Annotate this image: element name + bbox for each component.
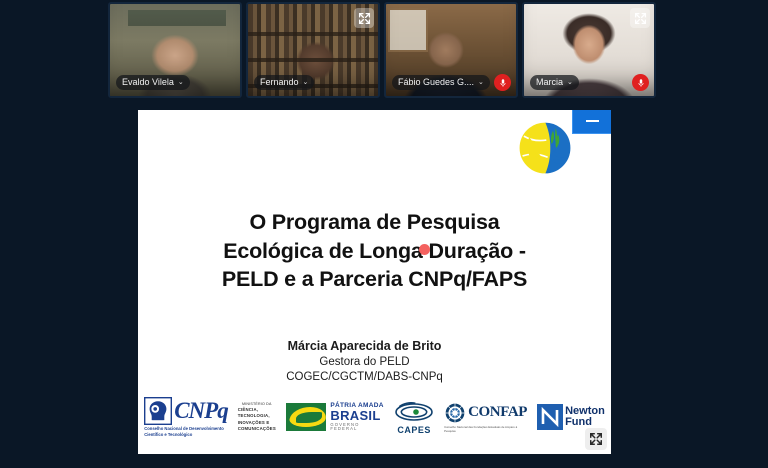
- slide-title-line-3: PELD e a Parceria CNPq/FAPS: [138, 265, 611, 294]
- participant-video-strip: Evaldo Vilela ⌄ Fernando ⌄: [108, 0, 660, 100]
- minimize-icon: [586, 120, 599, 122]
- confap-label: CONFAP: [468, 404, 527, 421]
- confap-subtitle: Conselho Nacional das Fundações Estaduai…: [444, 425, 527, 433]
- slide-bottom-bar: [138, 454, 611, 468]
- cnpq-logo: CNPq Conselho Nacional de Desenvolviment…: [144, 397, 228, 438]
- author-department: COGEC/CGCTM/DABS-CNPq: [138, 370, 591, 386]
- ministerio-logo: MINISTÉRIO DA CIÊNCIA, TECNOLOGIA, INOVA…: [238, 402, 276, 432]
- participant-tile-fernando[interactable]: Fernando ⌄: [246, 2, 380, 98]
- brazil-flag-icon: [286, 403, 326, 431]
- author-name: Márcia Aparecida de Brito: [138, 338, 591, 355]
- newton-line-2: Fund: [565, 417, 605, 428]
- minimize-button[interactable]: [572, 110, 611, 134]
- author-role: Gestora do PELD: [138, 355, 591, 371]
- laser-pointer-dot: [419, 244, 430, 255]
- slide-title-line-1: O Programa de Pesquisa: [138, 208, 611, 237]
- newton-mark-icon: [537, 404, 563, 430]
- meeting-screen: Evaldo Vilela ⌄ Fernando ⌄: [0, 0, 768, 468]
- slide-title: O Programa de Pesquisa Ecológica de Long…: [138, 208, 611, 294]
- cnpq-mark-icon: [144, 397, 172, 425]
- microphone-muted-icon[interactable]: [632, 74, 649, 91]
- capes-logo: CAPES: [394, 400, 434, 435]
- newton-fund-logo: Newton Fund: [537, 404, 605, 430]
- ministerio-line-3: INOVAÇÕES E COMUNICAÇÕES: [238, 420, 276, 432]
- expand-icon[interactable]: [630, 8, 650, 28]
- microphone-muted-icon[interactable]: [494, 74, 511, 91]
- cnpq-subtitle-line-1: Conselho Nacional de Desenvolvimento: [144, 426, 224, 431]
- chevron-down-icon[interactable]: ⌄: [478, 79, 484, 86]
- slide-content: O Programa de Pesquisa Ecológica de Long…: [138, 110, 611, 468]
- brasil-line-2: BRASIL: [330, 409, 384, 423]
- shared-presentation-slide[interactable]: O Programa de Pesquisa Ecológica de Long…: [138, 110, 611, 468]
- chevron-down-icon[interactable]: ⌄: [178, 79, 184, 86]
- expand-icon[interactable]: [585, 428, 607, 450]
- participant-name: Marcia: [536, 78, 563, 87]
- participant-name-pill[interactable]: Fábio Guedes G.... ⌄: [392, 75, 490, 90]
- participant-tile-evaldo-vilela[interactable]: Evaldo Vilela ⌄: [108, 2, 242, 98]
- participant-name: Fernando: [260, 78, 299, 87]
- confap-mark-icon: [444, 402, 466, 424]
- cnpq-subtitle-line-2: Científico e Tecnológico: [144, 432, 192, 437]
- patria-amada-brasil-logo: PÁTRIA AMADA BRASIL GOVERNO FEDERAL: [286, 403, 384, 432]
- capes-label: CAPES: [397, 425, 431, 435]
- slide-title-line-2: Ecológica de Longa Duração -: [138, 237, 611, 266]
- confap-logo: CONFAP Conselho Nacional das Fundações E…: [444, 402, 527, 433]
- ministerio-line-2: CIÊNCIA, TECNOLOGIA,: [238, 407, 276, 419]
- peld-globe-logo: [512, 115, 578, 181]
- participant-name-pill[interactable]: Fernando ⌄: [254, 75, 314, 90]
- cnpq-wordmark: CNPq: [174, 399, 228, 422]
- footer-logo-row: CNPq Conselho Nacional de Desenvolviment…: [138, 390, 611, 444]
- participant-name: Fábio Guedes G....: [398, 78, 474, 87]
- participant-name-pill[interactable]: Marcia ⌄: [530, 75, 579, 90]
- brasil-line-3: GOVERNO FEDERAL: [330, 423, 384, 431]
- expand-icon[interactable]: [354, 8, 374, 28]
- participant-name: Evaldo Vilela: [122, 78, 174, 87]
- participant-name-pill[interactable]: Evaldo Vilela ⌄: [116, 75, 190, 90]
- capes-mark-icon: [394, 400, 434, 424]
- chevron-down-icon[interactable]: ⌄: [303, 79, 309, 86]
- chevron-down-icon[interactable]: ⌄: [567, 79, 573, 86]
- participant-tile-fabio-guedes[interactable]: Fábio Guedes G.... ⌄: [384, 2, 518, 98]
- participant-tile-marcia[interactable]: Marcia ⌄: [522, 2, 656, 98]
- author-block: Márcia Aparecida de Brito Gestora do PEL…: [138, 338, 591, 386]
